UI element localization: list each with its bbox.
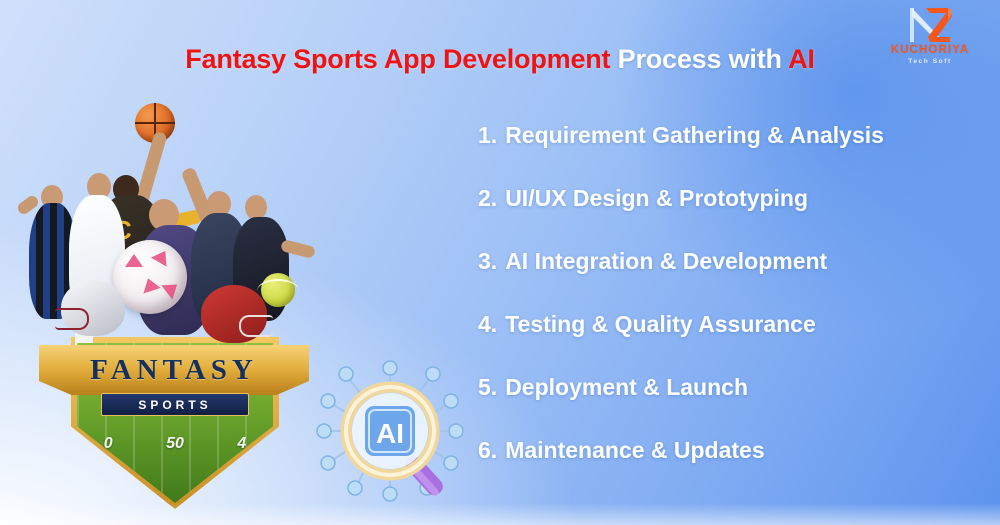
step-label: UI/UX Design & Prototyping bbox=[505, 187, 808, 210]
step-number: 6. bbox=[478, 439, 497, 462]
emblem-banner: FANTASY bbox=[39, 345, 309, 395]
brand-tagline: Tech Soft bbox=[874, 59, 986, 66]
list-item: 3. AI Integration & Development bbox=[478, 250, 998, 313]
page-title: Fantasy Sports App Development Process w… bbox=[0, 44, 1000, 75]
tennis-ball-icon bbox=[261, 273, 295, 307]
step-label: Maintenance & Updates bbox=[505, 439, 764, 462]
list-item: 6. Maintenance & Updates bbox=[478, 439, 998, 502]
process-step-list: 1. Requirement Gathering & Analysis 2. U… bbox=[478, 124, 998, 502]
k-monogram-icon bbox=[904, 4, 956, 44]
emblem-banner-text: FANTASY bbox=[90, 354, 258, 387]
poster-canvas: KUCHORIYA Tech Soft Fantasy Sports App D… bbox=[0, 0, 1000, 525]
yard-marker: 0 bbox=[104, 435, 113, 453]
sports-athletes-collage: C bbox=[25, 95, 355, 515]
list-item: 4. Testing & Quality Assurance bbox=[478, 313, 998, 376]
fantasy-sports-emblem: 0 50 4 FANTASY SPORTS bbox=[39, 317, 309, 507]
step-number: 2. bbox=[478, 187, 497, 210]
title-part-1: Fantasy Sports App Development bbox=[185, 44, 610, 74]
yard-marker: 4 bbox=[237, 435, 246, 453]
ai-chip-label: AI bbox=[376, 418, 404, 449]
step-label: Testing & Quality Assurance bbox=[505, 313, 816, 336]
yard-marker: 50 bbox=[166, 435, 184, 453]
emblem-subbar-text: SPORTS bbox=[138, 398, 211, 412]
brand-name: KUCHORIYA bbox=[874, 45, 986, 57]
emblem-subbar: SPORTS bbox=[101, 393, 249, 416]
step-label: Deployment & Launch bbox=[505, 376, 748, 399]
step-number: 5. bbox=[478, 376, 497, 399]
list-item: 5. Deployment & Launch bbox=[478, 376, 998, 439]
list-item: 2. UI/UX Design & Prototyping bbox=[478, 187, 998, 250]
step-number: 4. bbox=[478, 313, 497, 336]
brand-logo: KUCHORIYA Tech Soft bbox=[874, 4, 986, 70]
step-number: 3. bbox=[478, 250, 497, 273]
ai-magnifier-icon: AI bbox=[315, 345, 465, 505]
step-label: AI Integration & Development bbox=[505, 250, 827, 273]
step-label: Requirement Gathering & Analysis bbox=[505, 124, 884, 147]
title-part-2: Process with bbox=[610, 44, 788, 74]
title-part-3: AI bbox=[788, 44, 815, 74]
step-number: 1. bbox=[478, 124, 497, 147]
list-item: 1. Requirement Gathering & Analysis bbox=[478, 124, 998, 187]
emblem-yard-markers: 0 50 4 bbox=[77, 435, 273, 453]
